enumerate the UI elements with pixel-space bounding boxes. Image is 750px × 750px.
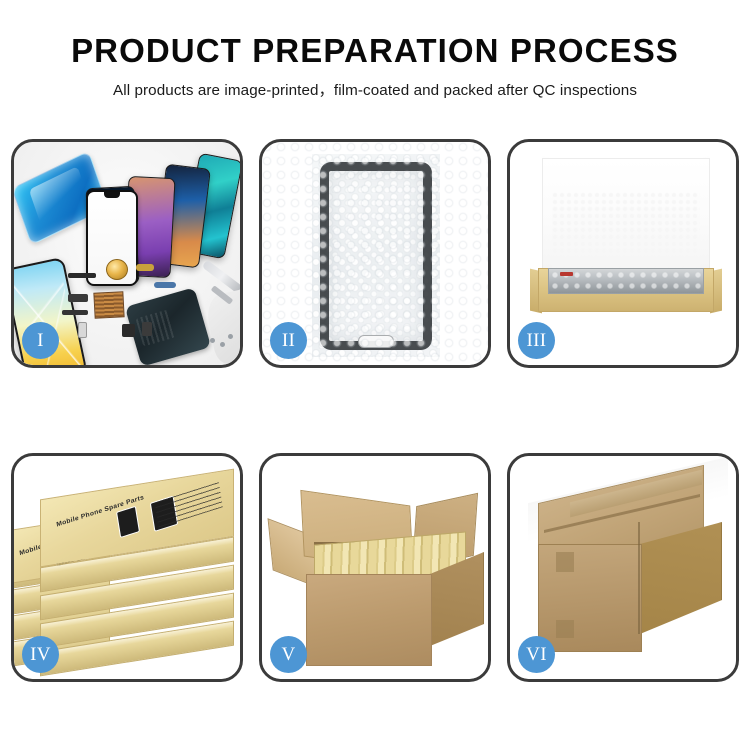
- vibrator-motor-part: [142, 322, 152, 336]
- carton-front-panel: [538, 544, 642, 652]
- step-panel-4: Mobile Phone Spare Parts Mobile Phone Sp…: [11, 453, 243, 682]
- step-badge-5: V: [270, 636, 307, 673]
- red-label-mark: [560, 272, 573, 276]
- carton-vertical-edge: [638, 522, 640, 634]
- speaker-module: [106, 259, 128, 280]
- box-thumbnail-image: [116, 506, 140, 538]
- steps-grid: I II: [11, 139, 739, 682]
- gold-connector-part: [136, 264, 154, 271]
- screw-3: [228, 334, 233, 339]
- screw-2: [220, 342, 225, 347]
- step-badge-6: VI: [518, 636, 555, 673]
- camera-module-part: [122, 324, 135, 337]
- step-panel-3: III: [507, 139, 739, 368]
- carton-tab-upper: [556, 552, 574, 572]
- step-panel-2: II: [259, 139, 491, 368]
- blue-flex-part: [154, 282, 176, 288]
- step-badge-4: IV: [22, 636, 59, 673]
- product-preparation-infographic: PRODUCT PREPARATION PROCESS All products…: [0, 0, 750, 750]
- box-stack-front: Mobile Phone Spare Parts: [40, 484, 234, 666]
- step-panel-5: V: [259, 453, 491, 682]
- box-spec-text-lines: [154, 479, 223, 527]
- step-panel-6: VI: [507, 453, 739, 682]
- carton-front-panel: [306, 574, 432, 666]
- header: PRODUCT PREPARATION PROCESS All products…: [0, 0, 750, 100]
- step-badge-3: III: [518, 322, 555, 359]
- ribbon-cable-part: [62, 310, 88, 315]
- screw-1: [210, 338, 215, 343]
- flex-cable-part: [68, 273, 96, 278]
- white-foam-padding: [552, 192, 700, 274]
- step-badge-2: II: [270, 322, 307, 359]
- sim-tray-part: [78, 322, 87, 338]
- page-title: PRODUCT PREPARATION PROCESS: [0, 33, 750, 69]
- carton-tab-lower: [556, 620, 574, 638]
- step-badge-1: I: [22, 322, 59, 359]
- copper-contact-pad: [93, 291, 124, 319]
- step-panel-1: I: [11, 139, 243, 368]
- page-subtitle: All products are image-printed，film-coat…: [0, 78, 750, 100]
- small-module-part: [68, 294, 88, 302]
